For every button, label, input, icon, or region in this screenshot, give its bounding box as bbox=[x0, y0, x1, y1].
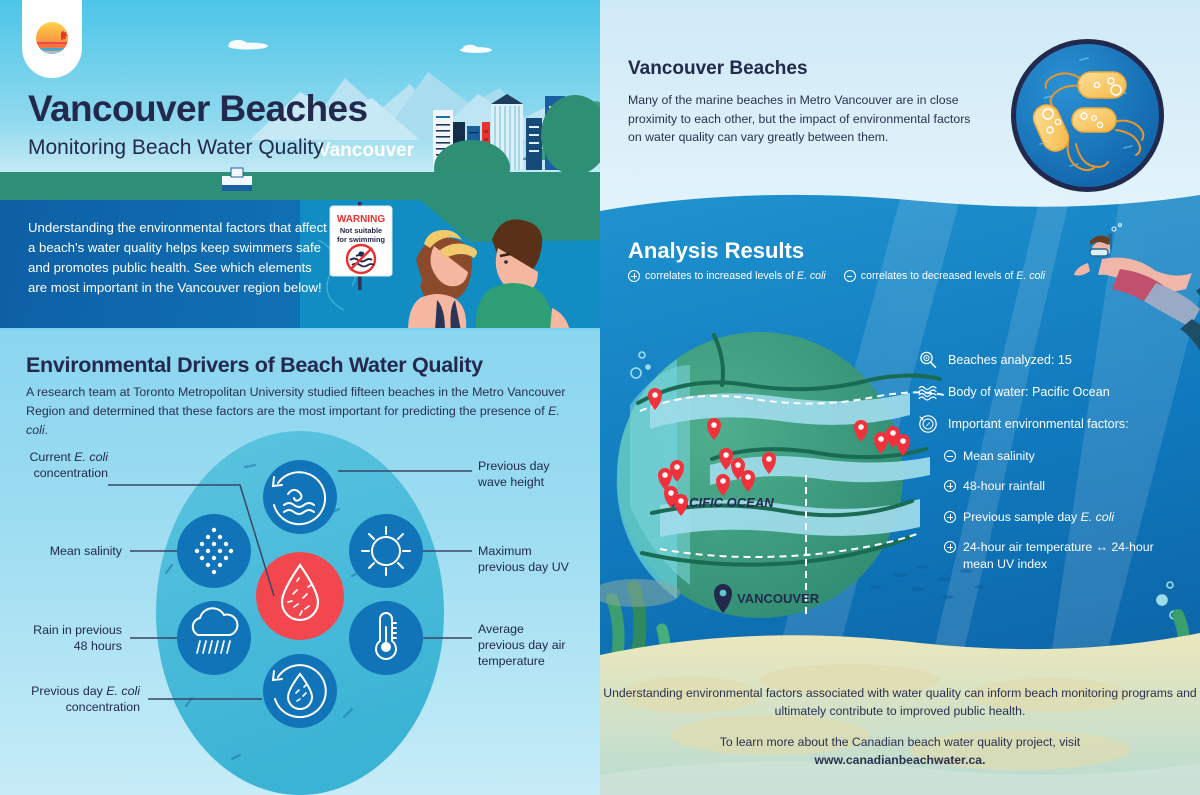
warning-sign: WARNING Not suitable for swimming bbox=[330, 206, 392, 276]
legend-text-increase: correlates to increased levels of E. col… bbox=[645, 270, 826, 282]
footer-line2: To learn more about the Canadian beach w… bbox=[600, 733, 1200, 751]
label-mean-salinity: Mean salinity bbox=[0, 543, 122, 559]
factor-mean-salinity-text: Mean salinity bbox=[963, 448, 1035, 465]
svg-text:VANCOUVER: VANCOUVER bbox=[737, 591, 820, 606]
intro-band: WARNING Not suitable for swimming bbox=[0, 200, 600, 331]
factor-previous-ecoli-text: Previous sample day E. coli bbox=[963, 509, 1114, 526]
intro-paragraph: Understanding the environmental factors … bbox=[28, 218, 328, 298]
logo-tab bbox=[22, 0, 82, 78]
minus-icon bbox=[844, 270, 856, 282]
stat-body-of-water: Body of water: Pacific Ocean bbox=[918, 384, 1110, 402]
e-coli-petri-dish-icon bbox=[1010, 38, 1165, 193]
svg-text:Not suitable: Not suitable bbox=[340, 226, 382, 235]
footer-url[interactable]: www.canadianbeachwater.ca. bbox=[600, 751, 1200, 769]
hero-illustration: Vancouver Beaches Monitoring Beach Water… bbox=[0, 0, 600, 200]
left-panel: Vancouver Beaches Monitoring Beach Water… bbox=[0, 0, 600, 795]
node-salinity bbox=[177, 514, 251, 588]
environmental-drivers-section: Environmental Drivers of Beach Water Qua… bbox=[0, 331, 600, 795]
right-body: Many of the marine beaches in Metro Vanc… bbox=[628, 91, 978, 147]
stat-water-text: Body of water: Pacific Ocean bbox=[948, 384, 1110, 401]
stat-important-factors: Important environmental factors: bbox=[918, 416, 1129, 434]
analysis-heading: Analysis Results bbox=[628, 238, 804, 264]
label-rain-48h: Rain in previous48 hours bbox=[0, 622, 122, 654]
legend-item-decrease: correlates to decreased levels of E. col… bbox=[844, 270, 1045, 282]
node-air-temperature bbox=[349, 601, 423, 675]
factor-mean-salinity: Mean salinity bbox=[944, 448, 1035, 465]
label-wave-height: Previous daywave height bbox=[478, 458, 596, 490]
node-wave-height bbox=[263, 460, 337, 534]
factor-air-temp-uv: 24-hour air temperature ↔ 24-hour mean U… bbox=[944, 539, 1170, 573]
label-max-uv: Maximumprevious day UV bbox=[478, 543, 596, 575]
factor-air-temp-uv-text: 24-hour air temperature ↔ 24-hour mean U… bbox=[963, 539, 1170, 573]
canadian-beach-water-logo-icon bbox=[34, 20, 70, 56]
plus-icon bbox=[944, 480, 956, 492]
vancouver-heading: Vancouver bbox=[318, 140, 414, 162]
label-avg-air-temp: Averageprevious day airtemperature bbox=[478, 621, 596, 669]
plus-icon bbox=[944, 511, 956, 523]
compass-icon bbox=[918, 414, 938, 434]
analysis-legend: correlates to increased levels of E. col… bbox=[628, 270, 1045, 282]
plus-icon bbox=[628, 270, 640, 282]
footer-line1: Understanding environmental factors asso… bbox=[600, 684, 1200, 720]
node-uv bbox=[349, 514, 423, 588]
page-subtitle: Monitoring Beach Water Quality bbox=[28, 136, 324, 160]
waves-icon bbox=[918, 382, 938, 402]
factor-previous-ecoli: Previous sample day E. coli bbox=[944, 509, 1114, 526]
stat-beaches-text: Beaches analyzed: 15 bbox=[948, 352, 1072, 369]
magnifier-icon bbox=[918, 350, 938, 370]
stat-factors-text: Important environmental factors: bbox=[948, 416, 1129, 433]
drivers-heading: Environmental Drivers of Beach Water Qua… bbox=[26, 353, 483, 378]
node-current-ecoli-center bbox=[256, 552, 344, 640]
right-heading: Vancouver Beaches bbox=[628, 58, 808, 80]
stat-beaches-analyzed: Beaches analyzed: 15 bbox=[918, 352, 1072, 370]
label-previous-day-ecoli: Previous day E. coliconcentration bbox=[0, 683, 140, 715]
page-title: Vancouver Beaches bbox=[28, 88, 367, 130]
factor-rainfall: 48-hour rainfall bbox=[944, 478, 1045, 495]
node-previous-ecoli bbox=[263, 654, 337, 728]
node-rain bbox=[177, 601, 251, 675]
factor-wheel: Current E. coliconcentration Mean salini… bbox=[0, 431, 600, 795]
factor-rainfall-text: 48-hour rainfall bbox=[963, 478, 1045, 495]
legend-item-increase: correlates to increased levels of E. col… bbox=[628, 270, 826, 282]
svg-text:WARNING: WARNING bbox=[337, 214, 386, 225]
label-current-ecoli: Current E. coliconcentration bbox=[0, 449, 108, 481]
legend-text-decrease: correlates to decreased levels of E. col… bbox=[861, 270, 1045, 282]
minus-icon bbox=[944, 450, 956, 462]
svg-text:for swimming: for swimming bbox=[337, 235, 386, 244]
plus-icon bbox=[944, 541, 956, 553]
infographic-page: Vancouver Beaches Monitoring Beach Water… bbox=[0, 0, 1200, 795]
